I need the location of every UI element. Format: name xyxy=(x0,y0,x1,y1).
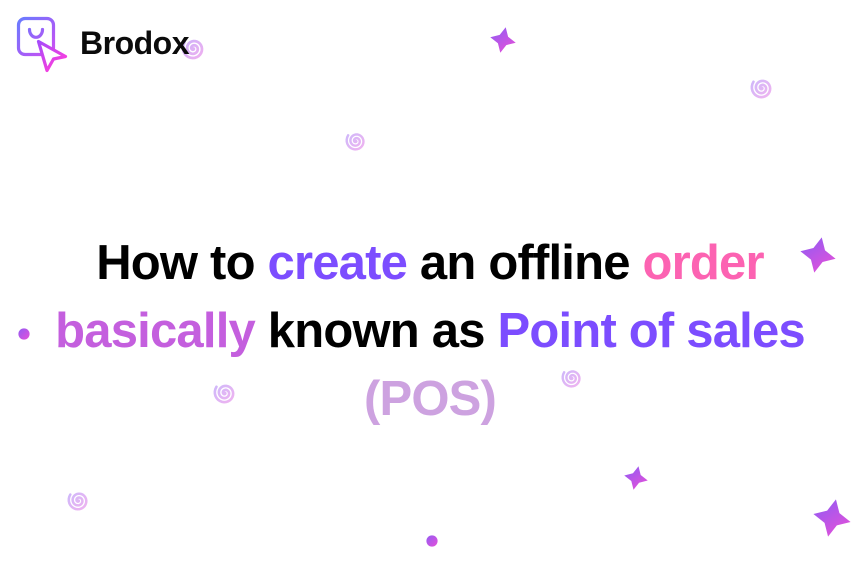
brand-wordmark: Brodox xyxy=(80,27,189,59)
spiral-decoration-6 xyxy=(67,489,90,512)
headline-segment-order: order xyxy=(643,236,764,290)
slide-canvas: Brodox How to create an offline order ba… xyxy=(0,0,860,573)
star-decoration-4 xyxy=(813,499,851,537)
page-title: How to create an offline order basically… xyxy=(0,229,860,433)
spiral-decoration-2 xyxy=(345,130,367,152)
headline-segment-create: create xyxy=(268,236,408,290)
headline-line-2: basically known as Point of sales xyxy=(55,304,805,358)
star-decoration-1 xyxy=(490,27,516,53)
headline-line-3: (POS) xyxy=(364,372,496,426)
brand-logo[interactable]: Brodox xyxy=(12,12,189,74)
headline-segment-3: an offline xyxy=(407,236,642,290)
headline-line-1: How to create an offline order xyxy=(96,236,764,290)
shopping-bag-smile-cursor-icon xyxy=(12,12,74,74)
headline-segment-1: How to xyxy=(96,236,267,290)
star-decoration-3 xyxy=(624,466,648,490)
headline-segment-pos: (POS) xyxy=(364,372,496,426)
dot-decoration-2 xyxy=(425,534,439,548)
headline-segment-basically: basically xyxy=(55,304,255,358)
headline-segment-6: known as xyxy=(255,304,498,358)
spiral-decoration-3 xyxy=(750,76,774,100)
headline-segment-point-of-sales: Point of sales xyxy=(497,304,804,358)
